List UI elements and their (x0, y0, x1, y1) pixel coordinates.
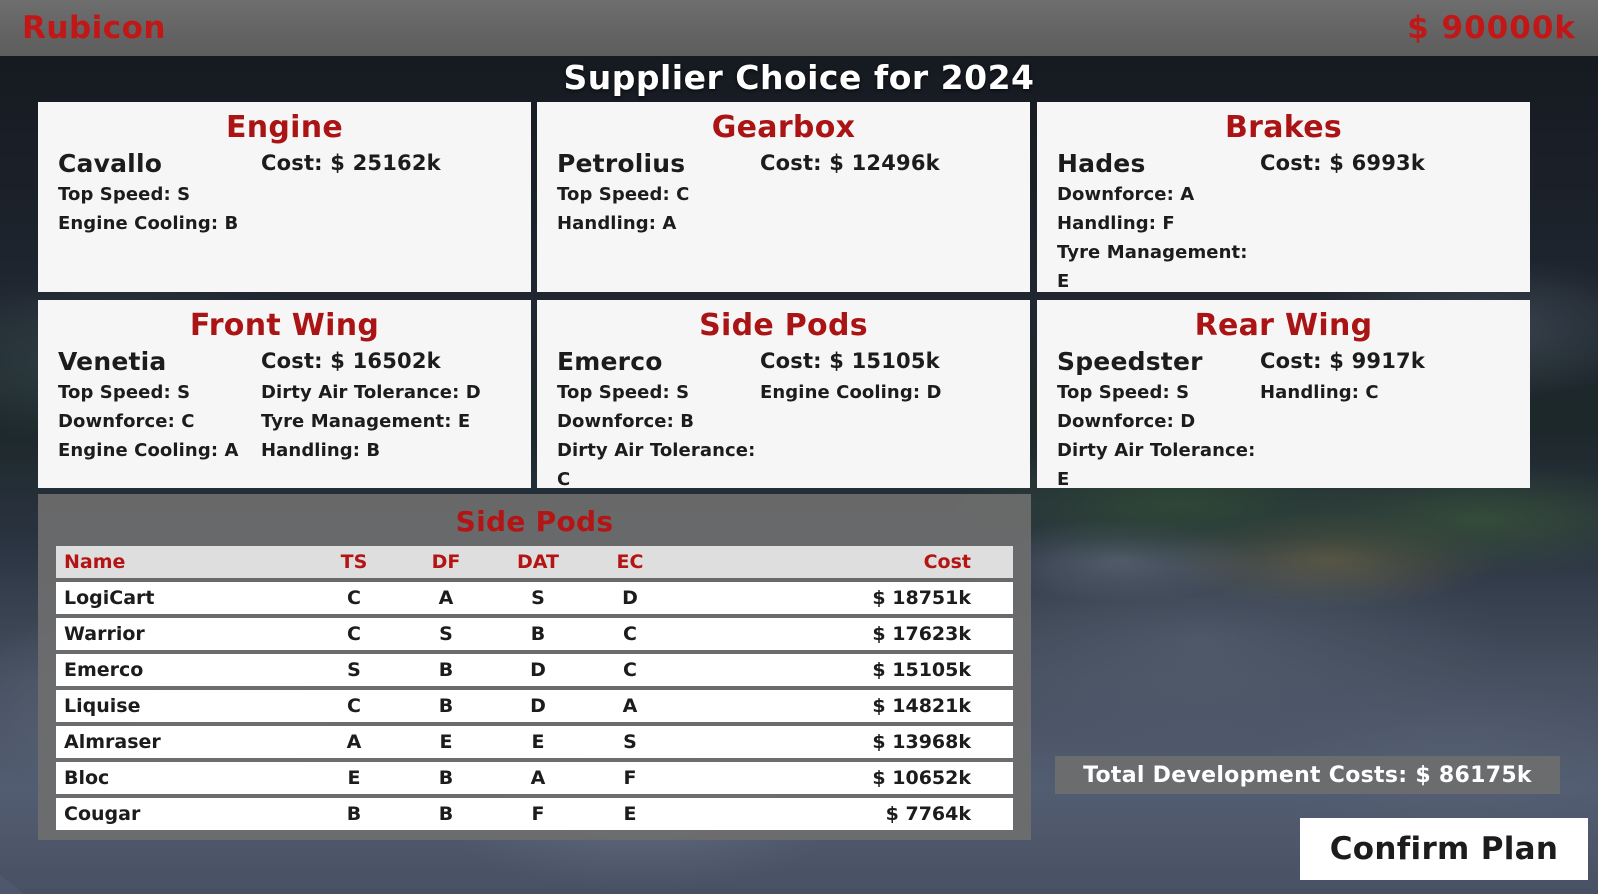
cell-ts: C (308, 582, 400, 614)
cell-dat: B (492, 618, 584, 650)
card-title-brakes: Brakes (1057, 109, 1510, 147)
supplier-card-front-wing[interactable]: Front Wing Venetia Top Speed: S Downforc… (38, 300, 531, 488)
stat-line: Dirty Air Tolerance: E (1057, 436, 1260, 494)
cell-name: Liquise (56, 690, 308, 722)
supplier-cost-rear-wing: Cost: $ 9917k (1260, 345, 1510, 378)
cell-ts: C (308, 690, 400, 722)
supplier-name-gearbox: Petrolius (557, 147, 760, 180)
stat-line: Top Speed: S (58, 378, 261, 407)
cell-name: Almraser (56, 726, 308, 758)
budget-amount: $ 90000k (1407, 10, 1576, 46)
supplier-name-side-pods: Emerco (557, 345, 760, 378)
cell-cost: $ 7764k (676, 798, 1013, 830)
column-header-df[interactable]: DF (400, 546, 492, 578)
column-header-dat[interactable]: DAT (492, 546, 584, 578)
table-body: LogiCartCASD$ 18751kWarriorCSBC$ 17623kE… (56, 582, 1013, 830)
card-title-engine: Engine (58, 109, 511, 147)
table-row[interactable]: CougarBBFE$ 7764k (56, 798, 1013, 830)
stat-line: Top Speed: S (557, 378, 760, 407)
cell-df: S (400, 618, 492, 650)
stat-line: Dirty Air Tolerance: D (261, 378, 511, 407)
supplier-cost-brakes: Cost: $ 6993k (1260, 147, 1510, 180)
supplier-card-brakes[interactable]: Brakes Hades Downforce: A Handling: F Ty… (1037, 102, 1530, 292)
supplier-table: Name TS DF DAT EC Cost LogiCartCASD$ 187… (56, 542, 1013, 834)
stat-line: Engine Cooling: D (760, 378, 1010, 407)
cell-ec: C (584, 618, 676, 650)
stat-line: Handling: B (261, 436, 511, 465)
cell-cost: $ 17623k (676, 618, 1013, 650)
stat-line: Dirty Air Tolerance: C (557, 436, 760, 494)
confirm-plan-button[interactable]: Confirm Plan (1300, 818, 1588, 880)
cell-cost: $ 10652k (676, 762, 1013, 794)
cell-ec: D (584, 582, 676, 614)
cell-dat: A (492, 762, 584, 794)
stat-line: Top Speed: S (1057, 378, 1260, 407)
cell-ts: S (308, 654, 400, 686)
cell-df: E (400, 726, 492, 758)
supplier-card-rear-wing[interactable]: Rear Wing Speedster Top Speed: S Downfor… (1037, 300, 1530, 488)
table-row[interactable]: LiquiseCBDA$ 14821k (56, 690, 1013, 722)
table-row[interactable]: EmercoSBDC$ 15105k (56, 654, 1013, 686)
game-screen: Rubicon $ 90000k Supplier Choice for 202… (0, 0, 1598, 894)
cell-cost: $ 13968k (676, 726, 1013, 758)
supplier-name-engine: Cavallo (58, 147, 261, 180)
card-title-side-pods: Side Pods (557, 307, 1010, 345)
supplier-list-title: Side Pods (56, 502, 1013, 542)
stat-line: Tyre Management: E (1057, 238, 1260, 296)
column-header-name[interactable]: Name (56, 546, 308, 578)
cell-df: A (400, 582, 492, 614)
cell-dat: S (492, 582, 584, 614)
supplier-card-engine[interactable]: Engine Cavallo Top Speed: S Engine Cooli… (38, 102, 531, 292)
cell-cost: $ 14821k (676, 690, 1013, 722)
cell-df: B (400, 654, 492, 686)
top-bar: Rubicon $ 90000k (0, 0, 1598, 56)
column-header-ts[interactable]: TS (308, 546, 400, 578)
cell-ec: C (584, 654, 676, 686)
cell-ts: B (308, 798, 400, 830)
supplier-name-brakes: Hades (1057, 147, 1260, 180)
cell-ts: A (308, 726, 400, 758)
stat-line: Engine Cooling: B (58, 209, 261, 238)
cell-name: LogiCart (56, 582, 308, 614)
table-row[interactable]: LogiCartCASD$ 18751k (56, 582, 1013, 614)
team-name-label: Rubicon (22, 10, 166, 46)
table-row[interactable]: AlmraserAEES$ 13968k (56, 726, 1013, 758)
cell-dat: D (492, 654, 584, 686)
column-header-cost[interactable]: Cost (676, 546, 1013, 578)
table-row[interactable]: BlocEBAF$ 10652k (56, 762, 1013, 794)
table-row[interactable]: WarriorCSBC$ 17623k (56, 618, 1013, 650)
stat-line: Handling: A (557, 209, 760, 238)
stat-line: Downforce: D (1057, 407, 1260, 436)
stat-line: Downforce: B (557, 407, 760, 436)
card-title-front-wing: Front Wing (58, 307, 511, 345)
stat-line: Tyre Management: E (261, 407, 511, 436)
cell-df: B (400, 798, 492, 830)
supplier-cost-gearbox: Cost: $ 12496k (760, 147, 1010, 180)
cell-dat: F (492, 798, 584, 830)
stat-line: Top Speed: C (557, 180, 760, 209)
cell-ec: S (584, 726, 676, 758)
stat-line: Downforce: A (1057, 180, 1260, 209)
supplier-card-side-pods[interactable]: Side Pods Emerco Top Speed: S Downforce:… (537, 300, 1030, 488)
page-title: Supplier Choice for 2024 (0, 58, 1598, 97)
supplier-name-front-wing: Venetia (58, 345, 261, 378)
cell-ec: F (584, 762, 676, 794)
supplier-card-gearbox[interactable]: Gearbox Petrolius Top Speed: C Handling:… (537, 102, 1030, 292)
cell-df: B (400, 690, 492, 722)
cell-df: B (400, 762, 492, 794)
table-header-row: Name TS DF DAT EC Cost (56, 546, 1013, 578)
column-header-ec[interactable]: EC (584, 546, 676, 578)
cell-dat: E (492, 726, 584, 758)
cell-ec: A (584, 690, 676, 722)
supplier-cost-front-wing: Cost: $ 16502k (261, 345, 511, 378)
cell-cost: $ 15105k (676, 654, 1013, 686)
stat-line: Handling: F (1057, 209, 1260, 238)
cell-name: Bloc (56, 762, 308, 794)
card-title-gearbox: Gearbox (557, 109, 1010, 147)
cell-dat: D (492, 690, 584, 722)
supplier-name-rear-wing: Speedster (1057, 345, 1260, 378)
cell-name: Warrior (56, 618, 308, 650)
stat-line: Top Speed: S (58, 180, 261, 209)
supplier-cost-side-pods: Cost: $ 15105k (760, 345, 1010, 378)
cell-ts: C (308, 618, 400, 650)
table-header: Name TS DF DAT EC Cost (56, 546, 1013, 578)
cell-cost: $ 18751k (676, 582, 1013, 614)
supplier-list-panel: Side Pods Name TS DF DAT EC Cost LogiCar… (38, 494, 1031, 840)
stat-line: Engine Cooling: A (58, 436, 261, 465)
supplier-cost-engine: Cost: $ 25162k (261, 147, 511, 180)
stat-line: Handling: C (1260, 378, 1510, 407)
stat-line: Downforce: C (58, 407, 261, 436)
cell-name: Emerco (56, 654, 308, 686)
card-title-rear-wing: Rear Wing (1057, 307, 1510, 345)
cell-name: Cougar (56, 798, 308, 830)
cell-ec: E (584, 798, 676, 830)
cell-ts: E (308, 762, 400, 794)
total-development-costs: Total Development Costs: $ 86175k (1055, 756, 1560, 794)
